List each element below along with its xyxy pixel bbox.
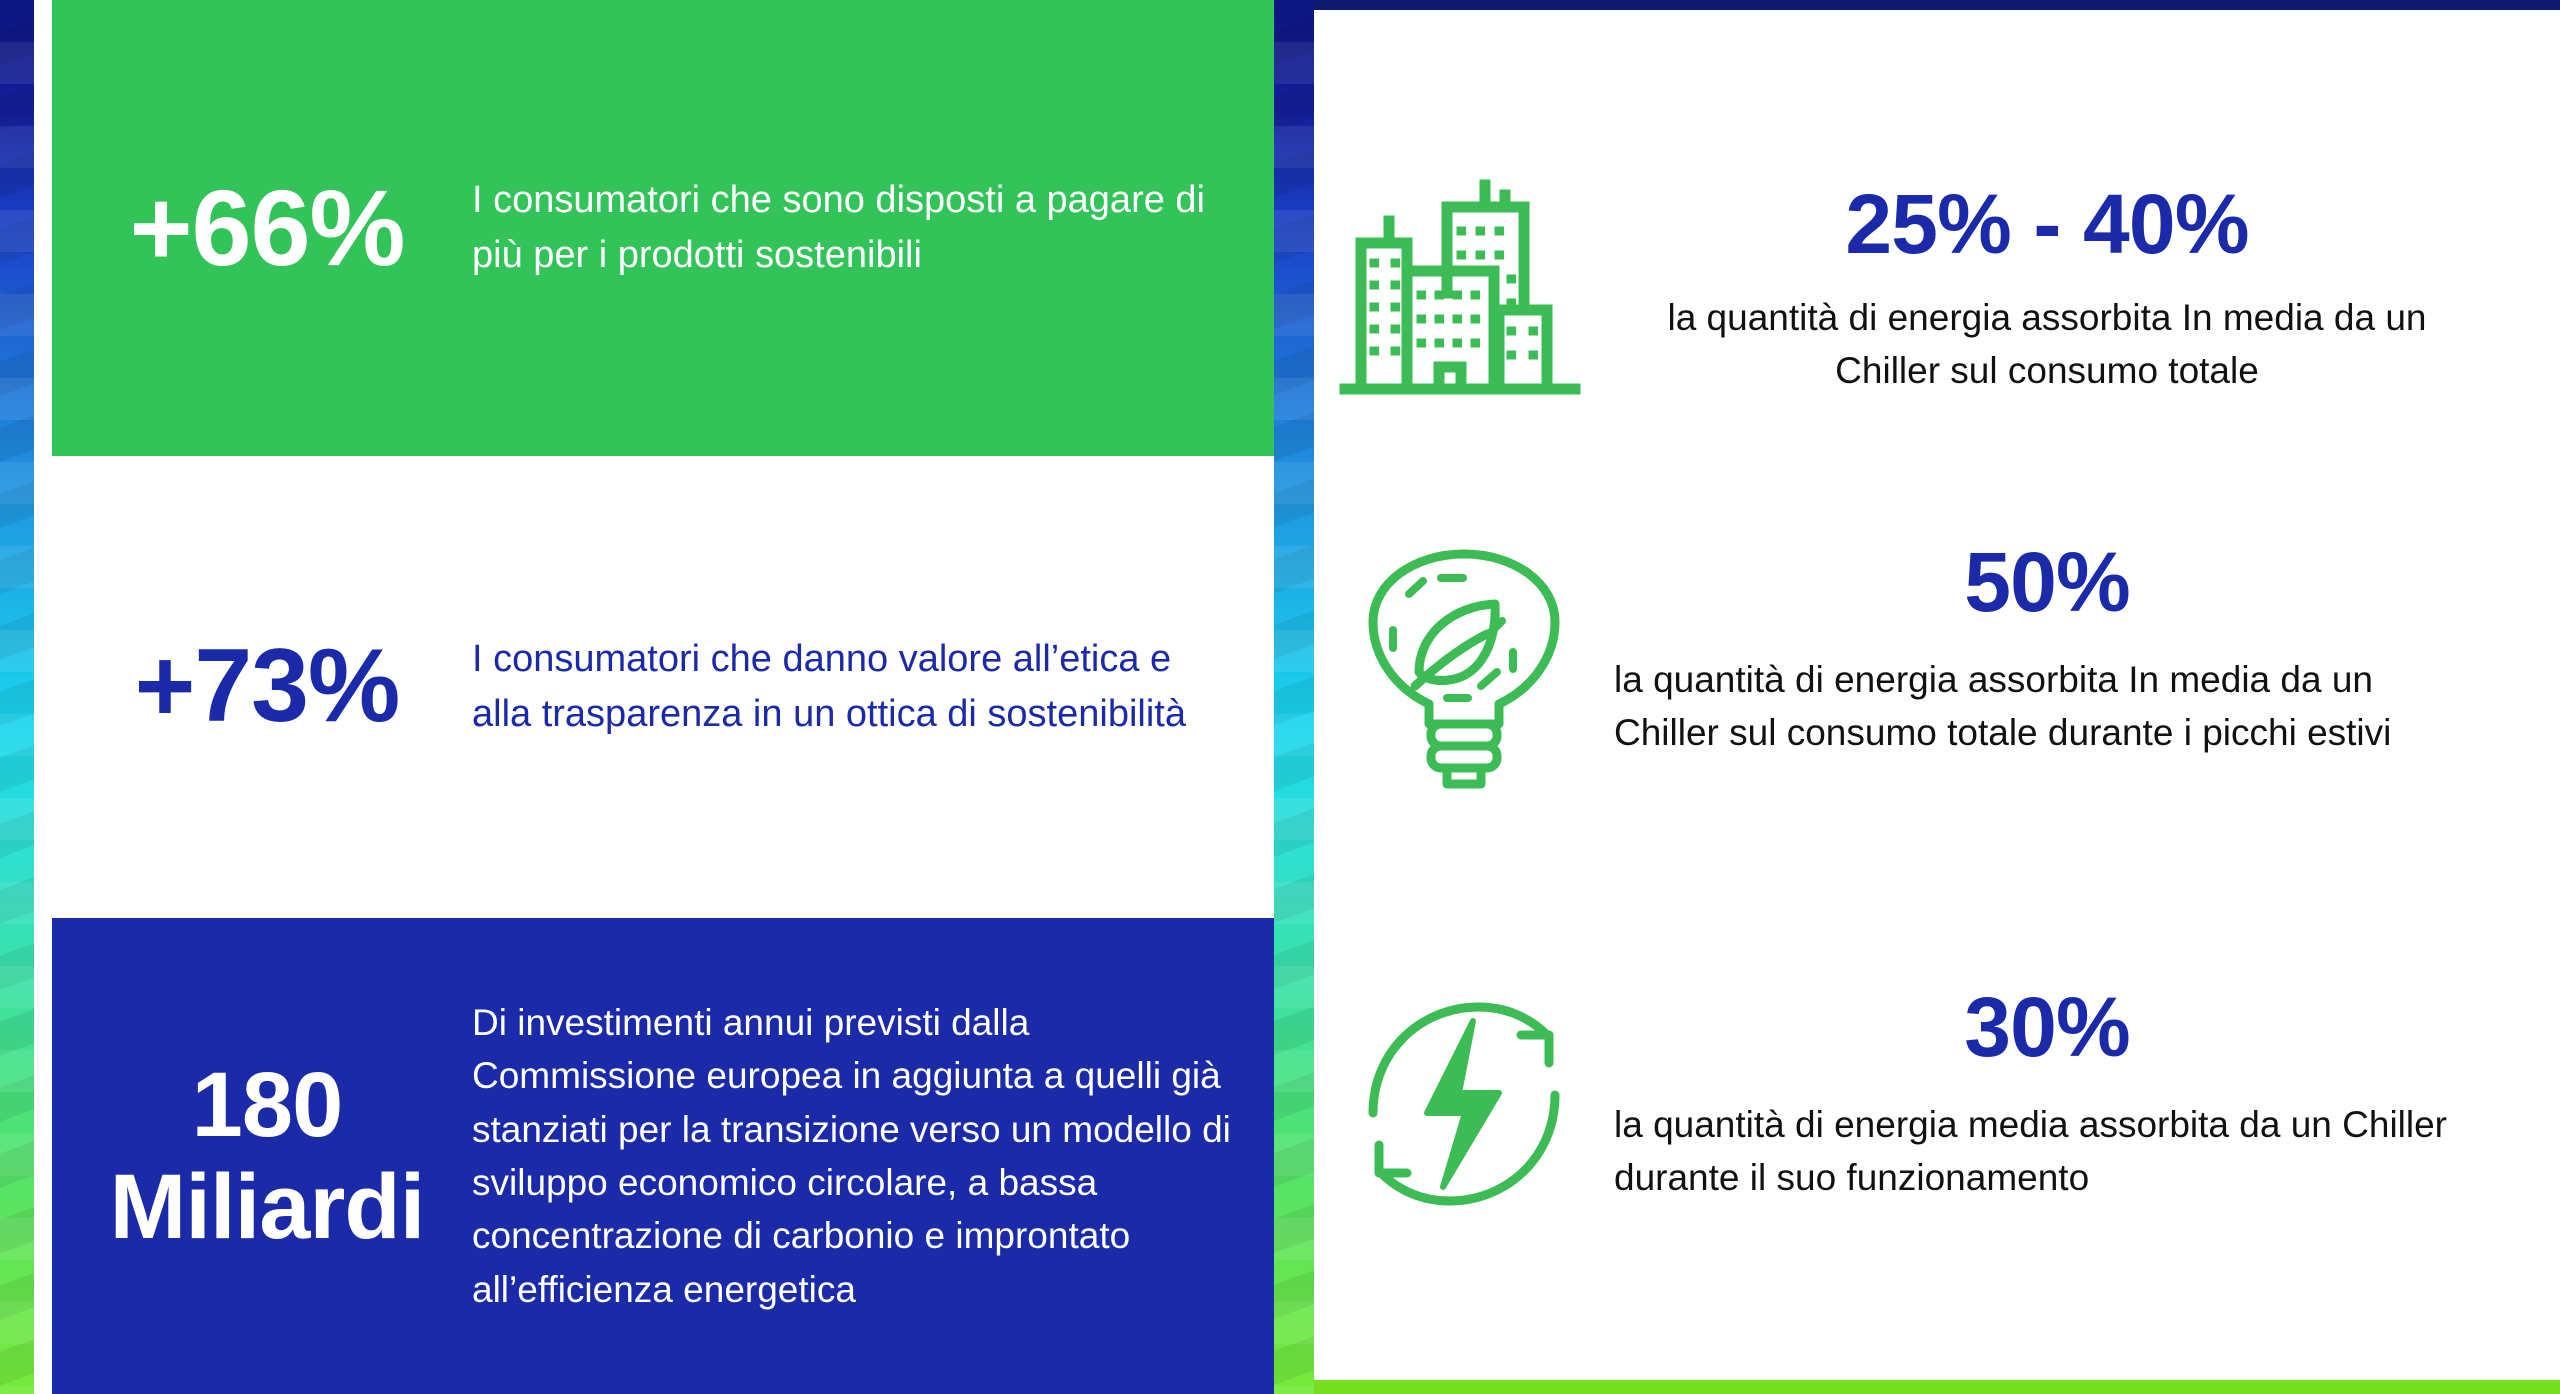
metric-caption-chiller-summer-peak: la quantità di energia assorbita In medi…: [1614, 654, 2480, 759]
stat-block-consumers-ethics: +73% I consumatori che danno valore all’…: [52, 456, 1274, 918]
metric-value-30-percent: 30%: [1614, 985, 2480, 1069]
eco-lightbulb-icon: [1314, 540, 1614, 791]
metric-text-chiller-average: 25% - 40% la quantità di energia assorbi…: [1614, 182, 2560, 397]
stat-block-consumers-pay-more: +66% I consumatori che sono disposti a p…: [52, 0, 1274, 456]
metric-row-chiller-operation: 30% la quantità di energia media assorbi…: [1314, 985, 2560, 1285]
metric-caption-chiller-average: la quantità di energia assorbita In medi…: [1614, 292, 2480, 397]
left-band-hairline: [34, 0, 37, 1394]
stat-figure-miliardi-word: Miliardi: [62, 1163, 472, 1251]
metric-value-50-percent: 50%: [1614, 540, 2480, 624]
stat-figure-180-miliardi: 180 Miliardi: [52, 1061, 472, 1252]
infographic-slide: +66% I consumatori che sono disposti a p…: [0, 0, 2560, 1394]
stat-description-consumers-ethics: I consumatori che danno valore all’etica…: [472, 632, 1274, 743]
city-buildings-icon: [1314, 175, 1614, 405]
metric-row-chiller-summer-peak: 50% la quantità di energia assorbita In …: [1314, 540, 2560, 870]
stat-figure-66-percent: +66%: [52, 176, 472, 280]
stat-description-eu-investments: Di investimenti annui previsti dalla Com…: [472, 996, 1274, 1316]
stat-description-consumers-pay-more: I consumatori che sono disposti a pagare…: [472, 173, 1274, 284]
metric-text-chiller-summer-peak: 50% la quantità di energia assorbita In …: [1614, 540, 2560, 759]
stat-block-eu-investments: 180 Miliardi Di investimenti annui previ…: [52, 918, 1274, 1394]
metric-caption-chiller-operation: la quantità di energia media assorbita d…: [1614, 1099, 2480, 1204]
energy-recycle-icon: [1314, 985, 1614, 1213]
left-statistics-panel: +66% I consumatori che sono disposti a p…: [52, 0, 1274, 1394]
right-metrics-panel: 25% - 40% la quantità di energia assorbi…: [1314, 0, 2560, 1394]
metric-value-25-40-percent: 25% - 40%: [1614, 182, 2480, 266]
metric-row-chiller-average: 25% - 40% la quantità di energia assorbi…: [1314, 140, 2560, 440]
stat-figure-73-percent: +73%: [52, 637, 472, 737]
left-gradient-band: [0, 0, 34, 1394]
middle-gradient-band: [1272, 0, 1314, 1394]
metric-text-chiller-operation: 30% la quantità di energia media assorbi…: [1614, 985, 2560, 1204]
stat-figure-180-number: 180: [192, 1054, 343, 1156]
